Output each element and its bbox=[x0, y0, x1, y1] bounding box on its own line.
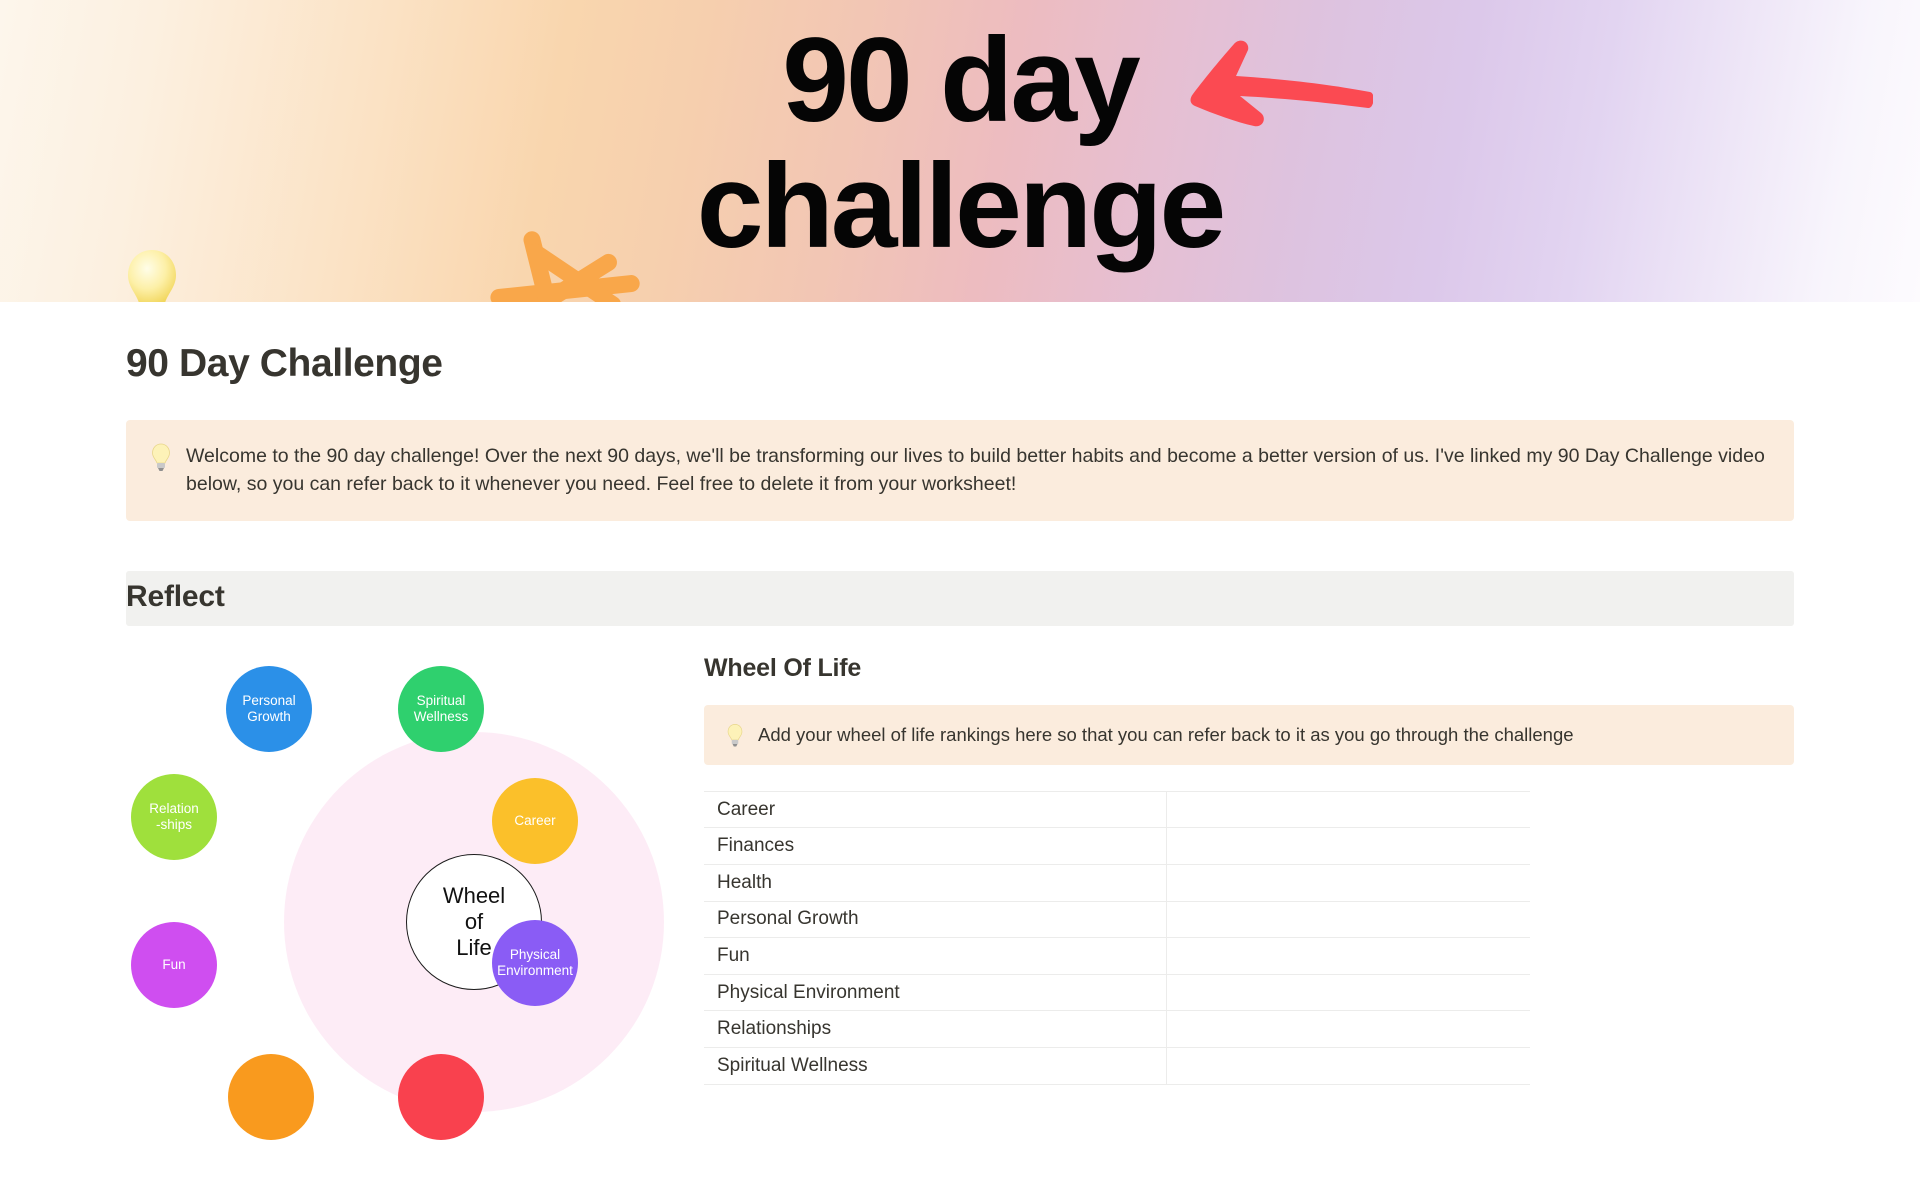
light-bulb-icon bbox=[150, 443, 172, 471]
rank-value-cell[interactable] bbox=[1166, 791, 1530, 828]
table-row: Relationships bbox=[704, 1011, 1530, 1048]
rank-value-cell[interactable] bbox=[1166, 901, 1530, 938]
table-row: Health bbox=[704, 865, 1530, 902]
table-row: Finances bbox=[704, 828, 1530, 865]
rank-value-cell[interactable] bbox=[1166, 974, 1530, 1011]
section-header-reflect: Reflect bbox=[126, 571, 1794, 626]
wheel-node-career: Career bbox=[492, 778, 578, 864]
intro-callout: Welcome to the 90 day challenge! Over th… bbox=[126, 420, 1794, 521]
wheel-panel-callout-text: Add your wheel of life rankings here so … bbox=[758, 722, 1574, 748]
rank-area-label[interactable]: Physical Environment bbox=[704, 974, 1166, 1011]
banner-title-line2: challenge bbox=[0, 146, 1920, 266]
light-bulb-icon bbox=[726, 723, 744, 747]
wheel-node-physical-environment: PhysicalEnvironment bbox=[492, 920, 578, 1006]
page-body: 90 Day Challenge Welcome to the 90 day c… bbox=[0, 302, 1920, 1094]
banner-title: 90 day challenge bbox=[0, 20, 1920, 266]
wheel-center-line1: Wheel bbox=[443, 883, 505, 909]
wheel-node-finances bbox=[398, 1054, 484, 1140]
rank-value-cell[interactable] bbox=[1166, 865, 1530, 902]
table-row: Career bbox=[704, 791, 1530, 828]
wheel-panel-callout: Add your wheel of life rankings here so … bbox=[704, 705, 1794, 765]
wheel-node-personal-growth: PersonalGrowth bbox=[226, 666, 312, 752]
wheel-center-line2: of bbox=[443, 909, 505, 935]
red-arrow-left-icon bbox=[1188, 36, 1373, 128]
page-cover-banner: 90 day challenge bbox=[0, 0, 1920, 302]
light-bulb-emoji bbox=[124, 248, 180, 302]
wheel-node-label-line1: Spiritual bbox=[414, 693, 469, 709]
rank-area-label[interactable]: Relationships bbox=[704, 1011, 1166, 1048]
rank-value-cell[interactable] bbox=[1166, 828, 1530, 865]
table-row: Spiritual Wellness bbox=[704, 1047, 1530, 1084]
table-row: Physical Environment bbox=[704, 974, 1530, 1011]
wheel-of-life-rankings-table: CareerFinancesHealthPersonal GrowthFunPh… bbox=[704, 791, 1530, 1085]
wheel-of-life-diagram: Wheel of Life PersonalGrowthSpiritualWel… bbox=[126, 666, 666, 1116]
wheel-of-life-panel: Wheel Of Life Add your wheel of life ran… bbox=[666, 654, 1794, 1094]
wheel-node-label-line2: -ships bbox=[149, 817, 199, 833]
wheel-node-label-line2: Growth bbox=[242, 709, 295, 725]
rank-area-label[interactable]: Fun bbox=[704, 938, 1166, 975]
rank-area-label[interactable]: Spiritual Wellness bbox=[704, 1047, 1166, 1084]
wheel-node-label-line1: Relation bbox=[149, 801, 199, 817]
wheel-node-label-line2: Wellness bbox=[414, 709, 469, 725]
rank-value-cell[interactable] bbox=[1166, 1011, 1530, 1048]
rank-value-cell[interactable] bbox=[1166, 938, 1530, 975]
wheel-node-label-line1: Physical bbox=[497, 947, 573, 963]
rank-area-label[interactable]: Personal Growth bbox=[704, 901, 1166, 938]
orange-star-icon bbox=[483, 220, 653, 302]
wheel-panel-title: Wheel Of Life bbox=[704, 654, 1794, 683]
wheel-node-relationships: Relation-ships bbox=[131, 774, 217, 860]
page-title: 90 Day Challenge bbox=[0, 302, 1920, 386]
table-row: Personal Growth bbox=[704, 901, 1530, 938]
wheel-node-health bbox=[228, 1054, 314, 1140]
rank-area-label[interactable]: Health bbox=[704, 865, 1166, 902]
intro-callout-text: Welcome to the 90 day challenge! Over th… bbox=[186, 442, 1766, 499]
reflect-two-column: Wheel of Life PersonalGrowthSpiritualWel… bbox=[126, 654, 1794, 1094]
wheel-node-label-line1: Fun bbox=[162, 957, 185, 973]
rank-area-label[interactable]: Career bbox=[704, 791, 1166, 828]
rank-area-label[interactable]: Finances bbox=[704, 828, 1166, 865]
table-row: Fun bbox=[704, 938, 1530, 975]
wheel-node-label-line2: Environment bbox=[497, 963, 573, 979]
wheel-of-life-diagram-column: Wheel of Life PersonalGrowthSpiritualWel… bbox=[126, 654, 666, 1094]
banner-title-line1: 90 day bbox=[0, 20, 1920, 140]
wheel-node-label-line1: Career bbox=[514, 813, 555, 829]
wheel-node-spiritual-wellness: SpiritualWellness bbox=[398, 666, 484, 752]
wheel-node-fun: Fun bbox=[131, 922, 217, 1008]
wheel-node-label-line1: Personal bbox=[242, 693, 295, 709]
section-heading-label: Reflect bbox=[126, 580, 1780, 614]
rank-value-cell[interactable] bbox=[1166, 1047, 1530, 1084]
